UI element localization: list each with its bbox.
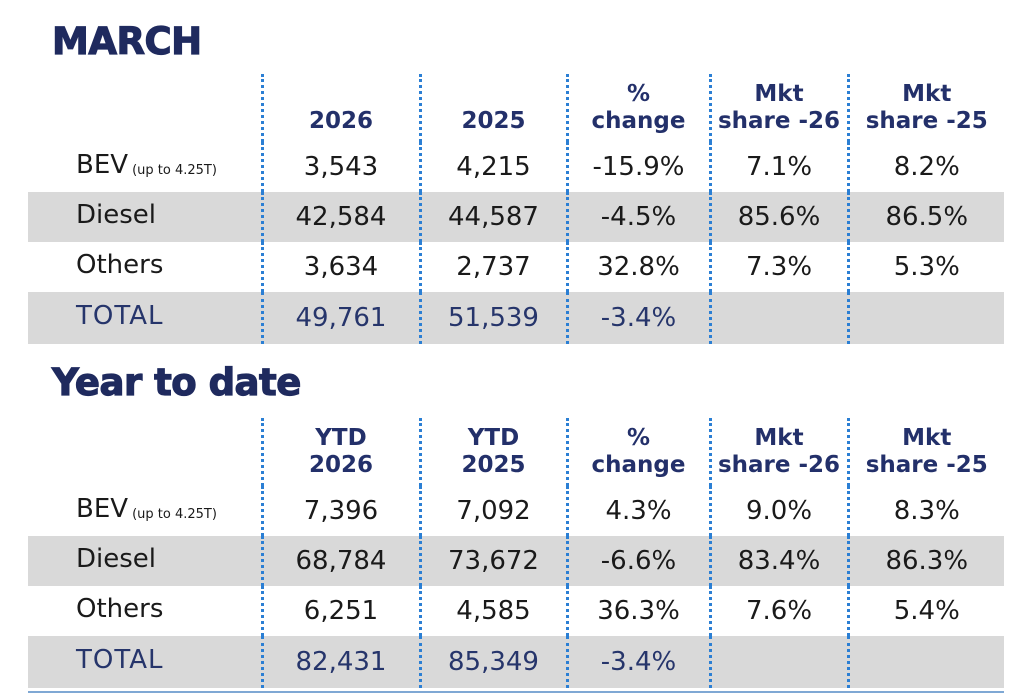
cell-mkt-share-26: 7.3% [710,242,848,292]
cell-2025: 44,587 [420,192,567,242]
header-cell-ytd-2025: YTD 2025 [420,418,567,486]
header-line2: change [592,108,686,134]
header-cell-pct-change: % change [567,74,710,142]
header-cell-mkt-share-25: Mkt share -25 [848,418,1004,486]
header-line2: 2025 [461,108,525,134]
header-line1: Mkt [902,425,951,451]
section-title-year-to-date: Year to date [52,361,301,405]
table-row: Others 3,634 2,737 32.8% 7.3% 5.3% [28,242,1004,292]
cell-mkt-share-25: 8.2% [848,142,1004,192]
header-row: YTD 2026 YTD 2025 % change Mkt share -26 [28,418,1004,486]
cell-2025: 2,737 [420,242,567,292]
header-cell-ytd-2026: YTD 2026 [262,418,420,486]
header-line2: 2026 [309,452,373,478]
cell-mkt-share-25: 5.4% [848,586,1004,636]
row-label-bev: BEV(up to 4.25T) [28,486,262,536]
cell-ytd-2025: 85,349 [420,636,567,688]
section-title-march: MARCH [52,20,202,64]
cell-2026: 3,634 [262,242,420,292]
table-row: Others 6,251 4,585 36.3% 7.6% 5.4% [28,586,1004,636]
cell-mkt-share-25 [848,636,1004,688]
header-cell-mkt-share-26: Mkt share -26 [710,74,848,142]
table-march: 2026 2025 % change Mkt share -26 [28,74,1004,344]
row-label-text: Diesel [76,544,156,574]
cell-2026: 3,543 [262,142,420,192]
cell-mkt-share-25: 86.5% [848,192,1004,242]
row-label-text: TOTAL [76,301,163,331]
cell-mkt-share-25 [848,292,1004,344]
row-label-text: TOTAL [76,645,163,675]
cell-ytd-2026: 82,431 [262,636,420,688]
cell-2025: 51,539 [420,292,567,344]
table-row: Diesel 42,584 44,587 -4.5% 85.6% 86.5% [28,192,1004,242]
header-line1: Mkt [754,425,803,451]
header-line2: 2026 [309,108,373,134]
row-label-text: BEV [76,150,128,180]
header-cell-2026: 2026 [262,74,420,142]
header-cell-mkt-share-25: Mkt share -25 [848,74,1004,142]
row-label-text: Others [76,250,163,280]
cell-pct-change: -6.6% [567,536,710,586]
cell-2025: 4,215 [420,142,567,192]
cell-pct-change: 32.8% [567,242,710,292]
cell-mkt-share-26: 7.6% [710,586,848,636]
table-body-ytd: BEV(up to 4.25T) 7,396 7,092 4.3% 9.0% 8… [28,486,1004,688]
row-label-text: BEV [76,494,128,524]
cell-ytd-2025: 4,585 [420,586,567,636]
cell-mkt-share-26: 9.0% [710,486,848,536]
table-row: BEV(up to 4.25T) 7,396 7,092 4.3% 9.0% 8… [28,486,1004,536]
cell-mkt-share-26: 83.4% [710,536,848,586]
header-cell-label [28,74,262,142]
table-header-march: 2026 2025 % change Mkt share -26 [28,74,1004,142]
row-label-total: TOTAL [28,292,262,344]
cell-pct-change: -4.5% [567,192,710,242]
table-header-ytd: YTD 2026 YTD 2025 % change Mkt share -26 [28,418,1004,486]
data-table-ytd: YTD 2026 YTD 2025 % change Mkt share -26 [28,418,1004,688]
cell-pct-change: -3.4% [567,292,710,344]
cell-pct-change: 36.3% [567,586,710,636]
cell-mkt-share-26 [710,292,848,344]
table-row: BEV(up to 4.25T) 3,543 4,215 -15.9% 7.1%… [28,142,1004,192]
cell-mkt-share-25: 5.3% [848,242,1004,292]
table-year-to-date: YTD 2026 YTD 2025 % change Mkt share -26 [28,418,1004,688]
table-body-march: BEV(up to 4.25T) 3,543 4,215 -15.9% 7.1%… [28,142,1004,344]
header-line1: YTD [468,425,519,451]
header-row: 2026 2025 % change Mkt share -26 [28,74,1004,142]
cell-ytd-2026: 7,396 [262,486,420,536]
cell-ytd-2026: 6,251 [262,586,420,636]
header-line2: change [592,452,686,478]
total-bottom-rule-ytd [28,691,1004,693]
header-line2: share -26 [718,108,840,134]
cell-2026: 49,761 [262,292,420,344]
header-cell-pct-change: % change [567,418,710,486]
cell-pct-change: 4.3% [567,486,710,536]
header-line1: YTD [315,425,366,451]
header-line1: Mkt [902,81,951,107]
cell-ytd-2025: 73,672 [420,536,567,586]
cell-pct-change: -15.9% [567,142,710,192]
cell-ytd-2026: 68,784 [262,536,420,586]
cell-ytd-2025: 7,092 [420,486,567,536]
cell-mkt-share-26: 85.6% [710,192,848,242]
table-row: Diesel 68,784 73,672 -6.6% 83.4% 86.3% [28,536,1004,586]
cell-mkt-share-26 [710,636,848,688]
row-label-subtext: (up to 4.25T) [132,507,217,522]
row-label-diesel: Diesel [28,536,262,586]
cell-pct-change: -3.4% [567,636,710,688]
row-label-total: TOTAL [28,636,262,688]
report-sheet: MARCH 2026 2025 [0,0,1024,694]
row-label-others: Others [28,242,262,292]
header-line1: % [627,81,650,107]
header-cell-2025: 2025 [420,74,567,142]
cell-mkt-share-26: 7.1% [710,142,848,192]
header-line2: share -25 [866,452,988,478]
cell-2026: 42,584 [262,192,420,242]
header-line2: 2025 [461,452,525,478]
header-cell-mkt-share-26: Mkt share -26 [710,418,848,486]
header-line2: share -26 [718,452,840,478]
row-label-text: Diesel [76,200,156,230]
cell-mkt-share-25: 86.3% [848,536,1004,586]
row-label-others: Others [28,586,262,636]
row-label-subtext: (up to 4.25T) [132,163,217,178]
cell-mkt-share-25: 8.3% [848,486,1004,536]
table-row-total: TOTAL 82,431 85,349 -3.4% [28,636,1004,688]
data-table-march: 2026 2025 % change Mkt share -26 [28,74,1004,344]
header-line1: % [627,425,650,451]
header-line2: share -25 [866,108,988,134]
row-label-diesel: Diesel [28,192,262,242]
row-label-text: Others [76,594,163,624]
header-cell-label [28,418,262,486]
row-label-bev: BEV(up to 4.25T) [28,142,262,192]
header-line1: Mkt [754,81,803,107]
table-row-total: TOTAL 49,761 51,539 -3.4% [28,292,1004,344]
